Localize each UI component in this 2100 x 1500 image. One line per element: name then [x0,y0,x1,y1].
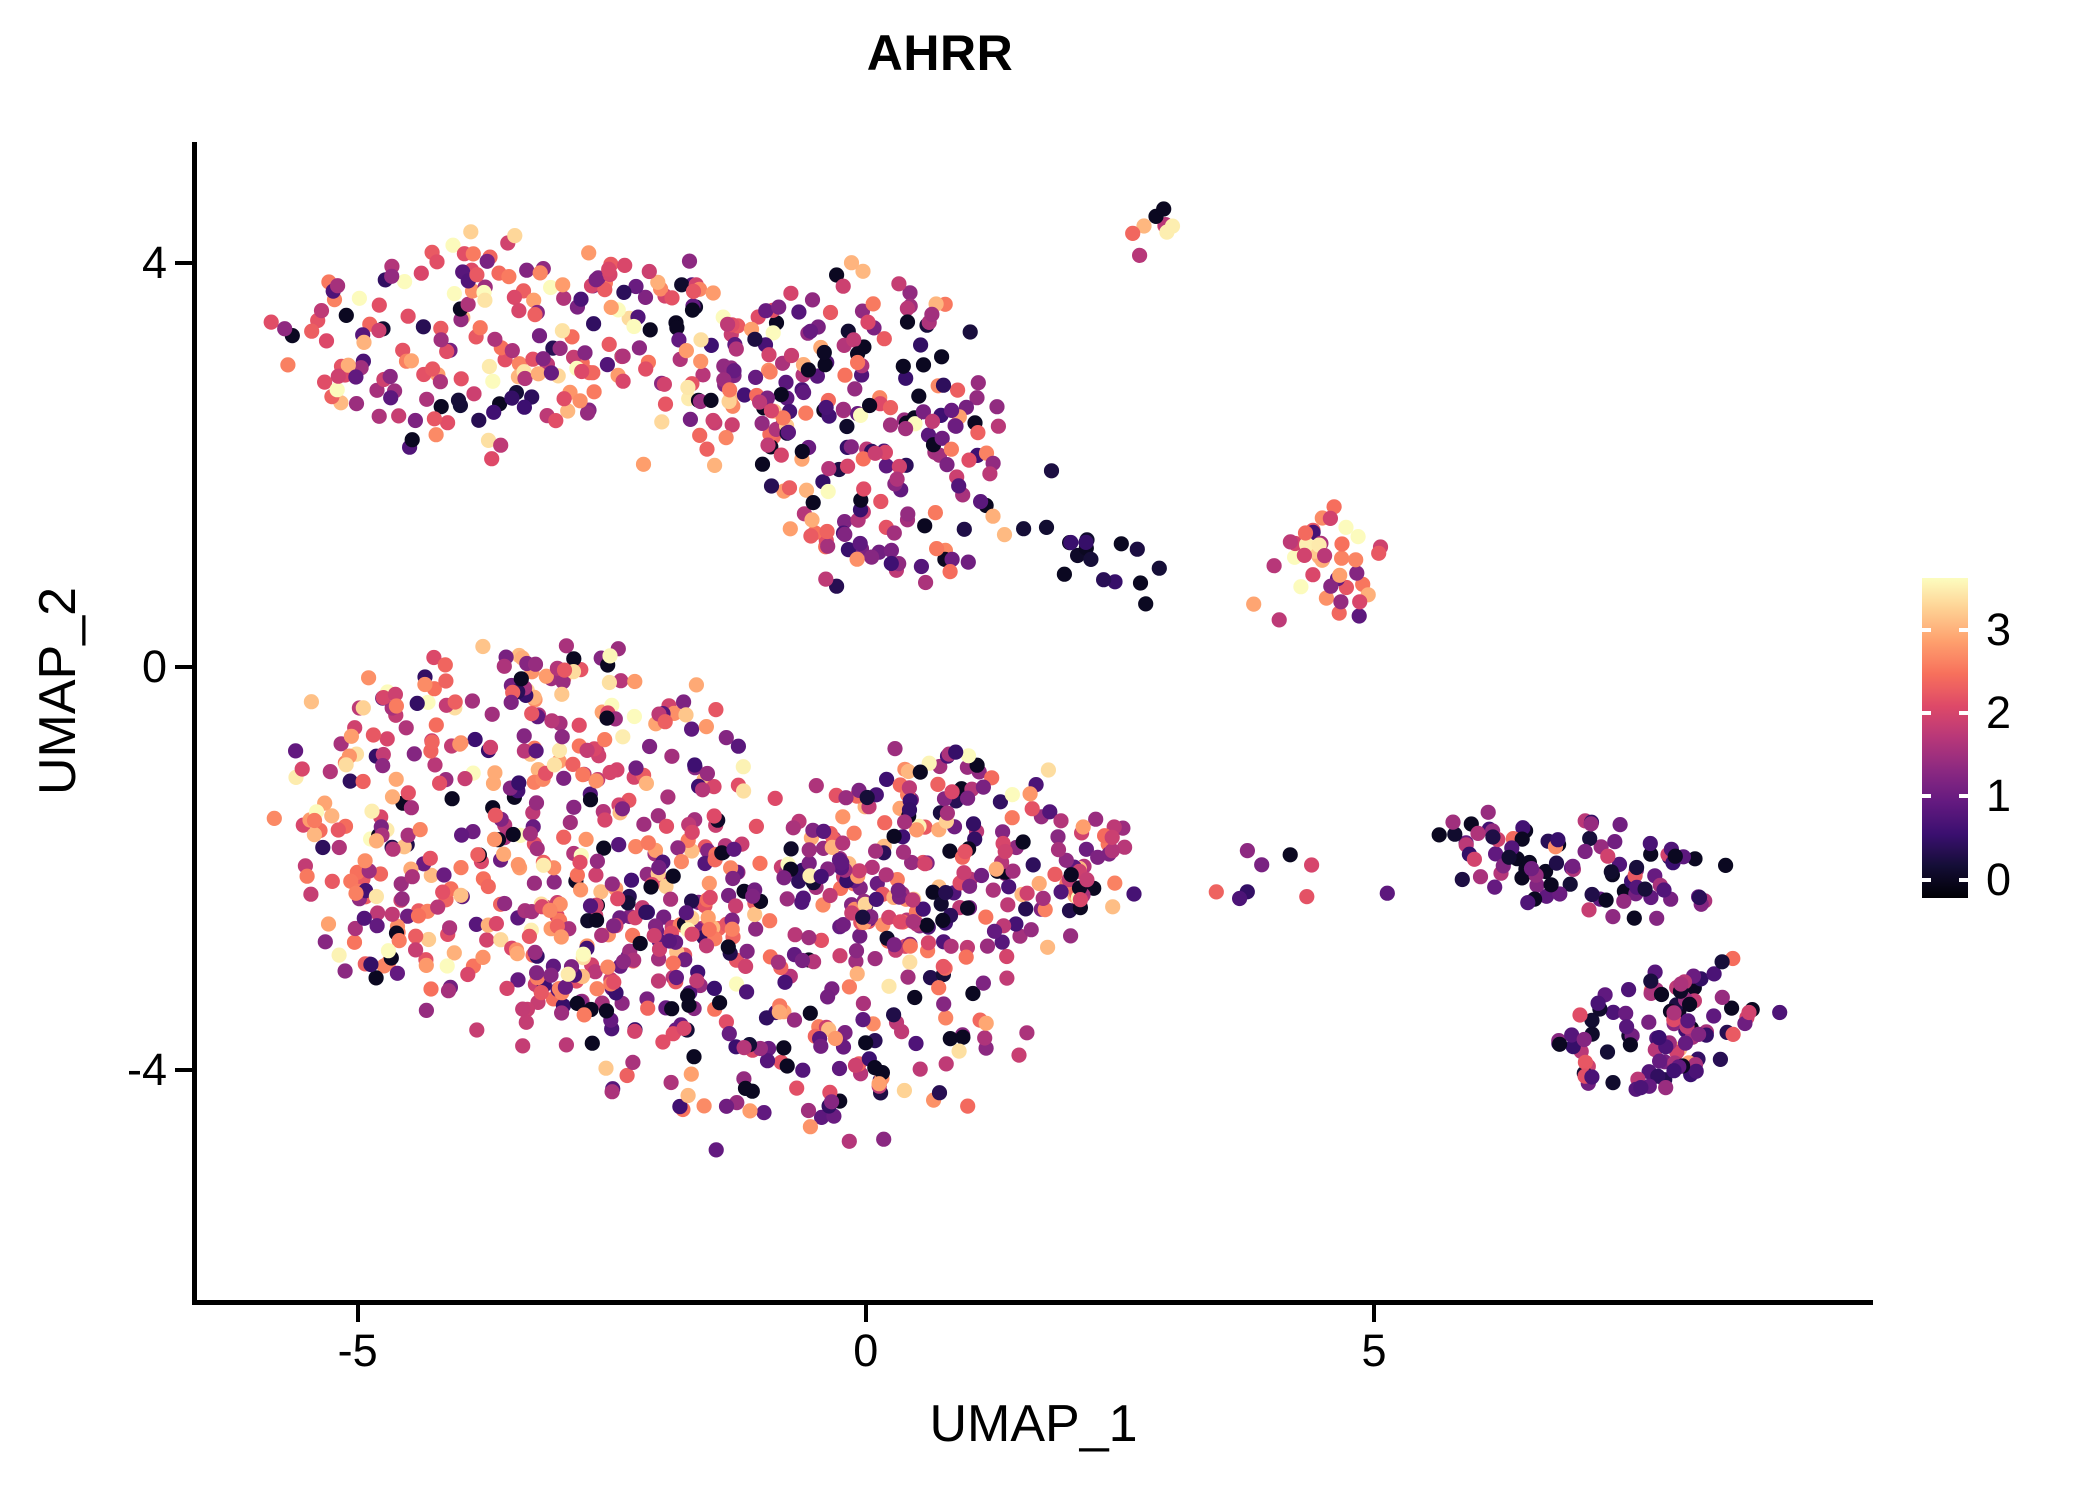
scatter-point [898,421,913,436]
scatter-point [839,419,854,434]
scatter-point [583,792,598,807]
scatter-point [908,1036,923,1051]
scatter-point [469,1022,484,1037]
scatter-point [651,973,666,988]
scatter-point [543,968,558,983]
scatter-point [837,368,852,383]
scatter-point [1105,843,1120,858]
scatter-point [1005,787,1020,802]
scatter-point [1130,542,1145,557]
scatter-point [890,472,905,487]
umap-feature-plot: AHRR -505 40-4 UMAP_1 UMAP_2 0123 [0,0,2100,1500]
scatter-point [522,929,537,944]
scatter-point [610,891,625,906]
scatter-point [674,854,689,869]
scatter-point [405,432,420,447]
scatter-point [542,903,557,918]
scatter-point [408,413,423,428]
scatter-point [736,783,751,798]
scatter-point [1549,856,1564,871]
scatter-point [1658,1080,1673,1095]
scatter-point [488,808,503,823]
scatter-point [814,869,829,884]
scatter-point [425,361,440,376]
scatter-point [764,478,779,493]
scatter-point [585,1036,600,1051]
scatter-point [590,854,605,869]
scatter-point [1096,572,1111,587]
scatter-point [640,1001,655,1016]
scatter-point [783,521,798,536]
scatter-point [435,885,450,900]
scatter-point [511,857,526,872]
scatter-point [1016,521,1031,536]
scatter-point [430,900,445,915]
scatter-point [1240,843,1255,858]
scatter-point [413,822,428,837]
scatter-point [707,808,722,823]
scatter-point [679,343,694,358]
scatter-point [974,868,989,883]
scatter-point [647,928,662,943]
scatter-point [977,1030,992,1045]
scatter-point [1073,892,1088,907]
scatter-point [1578,1055,1593,1070]
scatter-point [666,869,681,884]
scatter-point [1334,551,1349,566]
scatter-point [1105,830,1120,845]
scatter-point [487,765,502,780]
scatter-point [507,290,522,305]
scatter-point [963,324,978,339]
scatter-point [600,960,615,975]
scatter-point [682,254,697,269]
scatter-point [960,1099,975,1114]
scatter-point [719,1099,734,1114]
scatter-point [1544,877,1559,892]
scatter-point [867,1060,882,1075]
scatter-point [332,948,347,963]
scatter-point [852,929,867,944]
scatter-point [820,989,835,1004]
colorbar-tick-mark [1922,711,1931,715]
scatter-point [695,782,710,797]
scatter-point [816,824,831,839]
scatter-point [823,888,838,903]
scatter-point [1351,529,1366,544]
scatter-point [803,1006,818,1021]
scatter-point [499,981,514,996]
scatter-point [939,1056,954,1071]
scatter-point [1297,548,1312,563]
scatter-point [1666,1063,1681,1078]
scatter-point [900,506,915,521]
scatter-point [948,419,963,434]
scatter-point [1726,1027,1741,1042]
scatter-point [832,948,847,963]
scatter-point [999,949,1014,964]
scatter-point [586,316,601,331]
scatter-point [548,413,563,428]
scatter-point [781,425,796,440]
scatter-point [372,409,387,424]
scatter-point [868,951,883,966]
scatter-point [976,780,991,795]
scatter-point [868,844,883,859]
scatter-point [615,729,630,744]
scatter-point [917,518,932,533]
scatter-point [913,765,928,780]
scatter-point [1352,594,1367,609]
scatter-point [1715,990,1730,1005]
scatter-point [1138,596,1153,611]
scatter-point [776,1040,791,1055]
scatter-point [485,707,500,722]
scatter-point [369,970,384,985]
scatter-point [1105,899,1120,914]
scatter-point [1643,836,1658,851]
scatter-point [664,290,679,305]
scatter-point [385,789,400,804]
scatter-point [835,809,850,824]
scatter-point [597,732,612,747]
scatter-point [1502,850,1517,865]
scatter-point [755,457,770,472]
scatter-point [641,835,656,850]
scatter-point [780,1058,795,1073]
scatter-point [1018,901,1033,916]
scatter-point [1063,535,1078,550]
y-tick-mark [175,261,192,265]
scatter-point [1041,762,1056,777]
scatter-point [693,354,708,369]
scatter-point [729,341,744,356]
scatter-point [763,364,778,379]
scatter-point [369,889,384,904]
scatter-point [664,749,679,764]
scatter-point [597,812,612,827]
scatter-point [738,959,753,974]
scatter-point [596,841,611,856]
scatter-point [699,938,714,953]
scatter-point [887,525,902,540]
scatter-point [1585,887,1600,902]
scatter-point [760,438,775,453]
scatter-point [556,771,571,786]
scatter-point [556,830,571,845]
scatter-point [483,740,498,755]
scatter-point [980,939,995,954]
scatter-point [869,892,884,907]
scatter-point [1232,891,1247,906]
scatter-point [1011,1048,1026,1063]
scatter-point [739,984,754,999]
scatter-point [837,527,852,542]
scatter-point [599,1003,614,1018]
scatter-point [638,361,653,376]
scatter-point [434,332,449,347]
scatter-point [515,1002,530,1017]
scatter-point [528,945,543,960]
scatter-point [900,970,915,985]
scatter-point [1125,226,1140,241]
scatter-point [633,936,648,951]
scatter-point [662,933,677,948]
scatter-point [868,446,883,461]
scatter-point [1305,567,1320,582]
scatter-point [506,827,521,842]
scatter-point [487,332,502,347]
scatter-point [352,291,367,306]
scatter-point [722,1026,737,1041]
scatter-point [356,774,371,789]
scatter-point [1649,911,1664,926]
scatter-point [358,853,373,868]
scatter-point [658,714,673,729]
scatter-point [1001,879,1016,894]
scatter-point [699,442,714,457]
scatter-point [471,413,486,428]
scatter-point [1706,1008,1721,1023]
scatter-point [371,323,386,338]
scatter-point [1577,1032,1592,1047]
scatter-point [1668,849,1683,864]
scatter-point [802,842,817,857]
scatter-point [416,319,431,334]
colorbar-legend: 0123 [1922,578,2092,908]
scatter-point [877,815,892,830]
scatter-point [809,778,824,793]
scatter-point [1334,536,1349,551]
scatter-point [307,827,322,842]
scatter-point [777,975,792,990]
scatter-point [817,345,832,360]
scatter-point [616,285,631,300]
scatter-point [772,1004,787,1019]
scatter-point [288,743,303,758]
scatter-point [944,939,959,954]
x-tick-label: 0 [786,1326,946,1376]
scatter-point [842,979,857,994]
scatter-point [955,1030,970,1045]
scatter-point [638,905,653,920]
scatter-point [1600,1044,1615,1059]
scatter-point [1578,844,1593,859]
scatter-point [1654,987,1669,1002]
scatter-point [1682,997,1697,1012]
colorbar-tick-mark [1922,878,1931,882]
scatter-point [774,387,789,402]
scatter-point [477,293,492,308]
scatter-point [511,303,526,318]
scatter-point [795,444,810,459]
scatter-point [930,777,945,792]
x-tick-mark [356,1305,360,1322]
scatter-point [497,896,512,911]
scatter-point [823,305,838,320]
scatter-point [1607,834,1622,849]
scatter-point [510,946,525,961]
scatter-point [447,945,462,960]
scatter-point [1000,897,1015,912]
scatter-point [602,648,617,663]
scatter-point [1652,1054,1667,1069]
y-axis-title: UMAP_2 [32,111,84,1271]
scatter-point [719,430,734,445]
scatter-point [860,315,875,330]
scatter-point [300,869,315,884]
scatter-point [1584,1069,1599,1084]
scatter-point [530,841,545,856]
scatter-point [681,1088,696,1103]
scatter-point [679,905,694,920]
scatter-point [1678,1036,1693,1051]
scatter-point [1057,567,1072,582]
scatter-point [670,840,685,855]
scatter-point [1619,1019,1634,1034]
scatter-point [372,298,387,313]
scatter-point [725,922,740,937]
scatter-point [1455,872,1470,887]
scatter-point [1680,1013,1695,1028]
colorbar-tick-label: 3 [1986,607,2011,652]
scatter-point [1267,558,1282,573]
scatter-point [325,874,340,889]
scatter-point [1520,895,1535,910]
scatter-point [979,1016,994,1031]
scatter-point [295,761,310,776]
scatter-point [764,403,779,418]
scatter-point [427,757,442,772]
scatter-point [813,1039,828,1054]
scatter-point [706,285,721,300]
scatter-point [465,693,480,708]
scatter-point [651,860,666,875]
scatter-point [1126,886,1141,901]
scatter-point [1584,816,1599,831]
scatter-point [795,953,810,968]
scatter-point [504,695,519,710]
scatter-point [421,932,436,947]
scatter-point [598,1061,613,1076]
scatter-point [821,484,836,499]
scatter-point [1064,867,1079,882]
scatter-point [440,415,455,430]
scatter-point [784,348,799,363]
scatter-point [907,990,922,1005]
scatter-point [709,1142,724,1157]
scatter-point [625,1055,640,1070]
colorbar-gradient [1922,578,1968,898]
scatter-point [883,400,898,415]
scatter-point [835,836,850,851]
scatter-point [552,743,567,758]
scatter-point [1025,801,1040,816]
scatter-point [364,804,379,819]
scatter-point [555,323,570,338]
x-tick-label: 5 [1294,1326,1454,1376]
scatter-point [429,254,444,269]
scatter-point [794,895,809,910]
scatter-point [985,509,1000,524]
scatter-point [1604,864,1619,879]
scatter-point [886,1007,901,1022]
scatter-point [407,746,422,761]
scatter-point [848,1058,863,1073]
scatter-point [536,858,551,873]
scatter-point [879,867,894,882]
scatter-point [768,791,783,806]
scatter-point [519,263,534,278]
scatter-point [408,929,423,944]
scatter-point [1524,861,1539,876]
scatter-point [939,457,954,472]
colorbar-tick-label: 1 [1986,773,2011,818]
scatter-point [789,1081,804,1096]
scatter-point [453,860,468,875]
scatter-point [891,883,906,898]
scatter-point [615,801,630,816]
scatter-point [703,393,718,408]
scatter-point [451,393,466,408]
scatter-point [636,817,651,832]
scatter-point [820,539,835,554]
scatter-point [699,719,714,734]
scatter-point [461,297,476,312]
scatter-point [731,739,746,754]
scatter-point [323,764,338,779]
x-axis-line [192,1300,1873,1305]
scatter-point [1299,889,1314,904]
scatter-point [814,933,829,948]
scatter-point [429,717,444,732]
scatter-point [902,955,917,970]
scatter-point [1051,842,1066,857]
scatter-point [1348,552,1363,567]
scatter-point [952,1044,967,1059]
scatter-point [517,371,532,386]
scatter-point [740,944,755,959]
scatter-point [1371,546,1386,561]
scatter-point [1165,219,1180,234]
scatter-point [1032,876,1047,891]
scatter-point [573,393,588,408]
scatter-point [693,332,708,347]
scatter-point [1040,940,1055,955]
scatter-point [1565,859,1580,874]
scatter-point [838,790,853,805]
scatter-point [554,687,569,702]
scatter-point [832,1061,847,1076]
scatter-point [1467,852,1482,867]
scatter-point [557,391,572,406]
scatter-point [752,856,767,871]
scatter-point [850,355,865,370]
scatter-point [836,402,851,417]
scatter-point [554,929,569,944]
scatter-point [547,874,562,889]
scatter-point [357,911,372,926]
scatter-point [818,572,833,587]
scatter-point [684,1067,699,1082]
scatter-point [628,760,643,775]
scatter-point [602,675,617,690]
scatter-point [1485,829,1500,844]
scatter-point [1552,1037,1567,1052]
colorbar-tick-mark [1959,794,1968,798]
scatter-point [356,335,371,350]
x-tick-mark [864,1305,868,1322]
